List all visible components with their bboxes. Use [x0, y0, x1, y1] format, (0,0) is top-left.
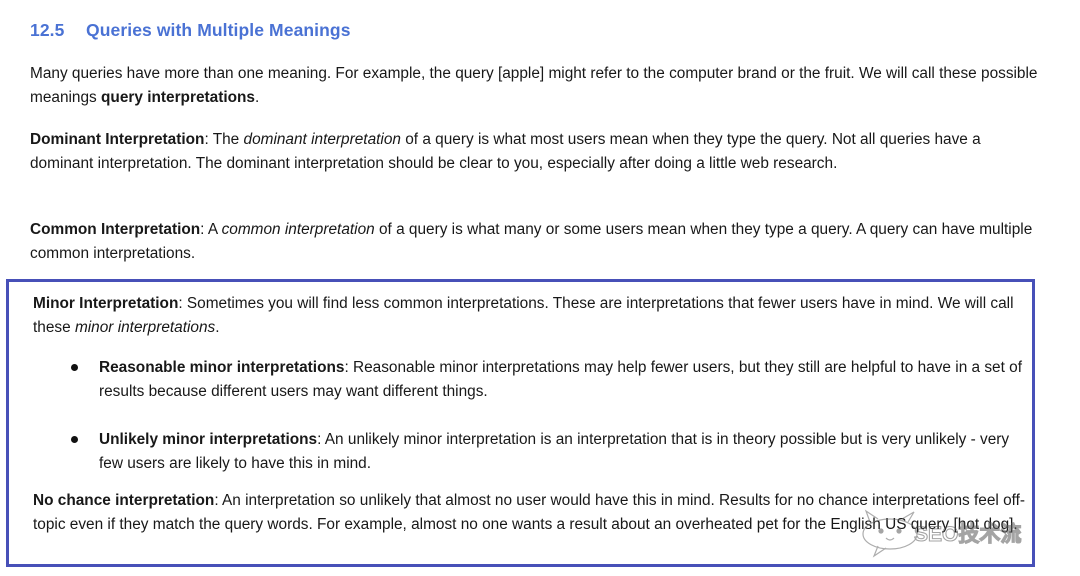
section-title: Queries with Multiple Meanings	[86, 20, 351, 40]
bullet-dot-icon	[71, 436, 78, 443]
intro-bold-term: query interpretations	[101, 89, 255, 106]
minor-italic-term: minor interpretations	[75, 319, 215, 336]
bullet-lead: Unlikely minor interpretations	[99, 431, 317, 448]
list-item: Unlikely minor interpretations: An unlik…	[33, 428, 1029, 476]
dominant-italic-term: dominant interpretation	[244, 131, 401, 148]
highlighted-callout-box: Minor Interpretation: Sometimes you will…	[6, 279, 1035, 567]
dominant-text-1: : The	[204, 131, 243, 148]
minor-lead: Minor Interpretation	[33, 295, 178, 312]
document-page: 12.5Queries with Multiple Meanings Many …	[0, 0, 1080, 576]
section-number: 12.5	[30, 20, 86, 41]
common-italic-term: common interpretation	[222, 221, 375, 238]
bullet-dot-icon	[71, 364, 78, 371]
minor-interpretation-list: Reasonable minor interpretations: Reason…	[33, 356, 1029, 476]
paragraph-intro: Many queries have more than one meaning.…	[30, 62, 1042, 110]
minor-text-2: .	[215, 319, 219, 336]
paragraph-dominant-interpretation: Dominant Interpretation: The dominant in…	[30, 128, 1042, 176]
paragraph-no-chance-interpretation: No chance interpretation: An interpretat…	[33, 489, 1029, 537]
page-title: 12.5Queries with Multiple Meanings	[30, 20, 351, 41]
common-lead: Common Interpretation	[30, 221, 200, 238]
intro-text-2: .	[255, 89, 259, 106]
list-item: Reasonable minor interpretations: Reason…	[33, 356, 1029, 404]
paragraph-minor-interpretation: Minor Interpretation: Sometimes you will…	[33, 292, 1029, 340]
paragraph-common-interpretation: Common Interpretation: A common interpre…	[30, 218, 1042, 266]
bullet-lead: Reasonable minor interpretations	[99, 359, 344, 376]
dominant-lead: Dominant Interpretation	[30, 131, 204, 148]
no-chance-lead: No chance interpretation	[33, 492, 214, 509]
common-text-1: : A	[200, 221, 221, 238]
